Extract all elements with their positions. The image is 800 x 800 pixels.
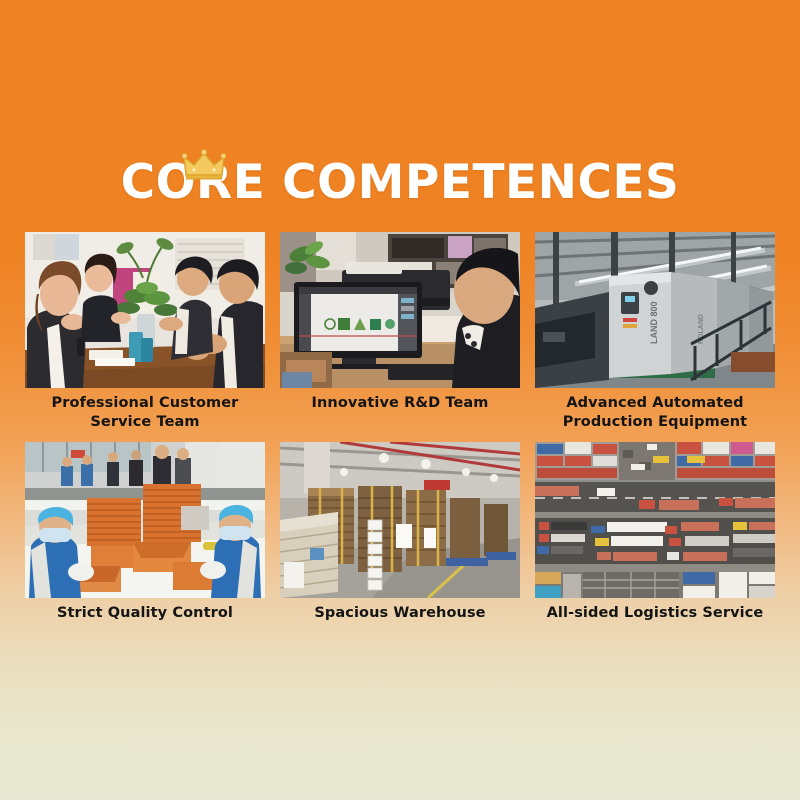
caption-line: Strict Quality Control	[25, 604, 265, 623]
card-professional-customer-service-team[interactable]: Professional Customer Service Team	[25, 232, 265, 434]
office-meeting-photo	[25, 232, 265, 388]
caption-line: All-sided Logistics Service	[535, 604, 775, 623]
caption-line: Spacious Warehouse	[280, 604, 520, 623]
caption-line: Service Team	[25, 413, 265, 432]
card-caption: Advanced Automated Production Equipment	[535, 394, 775, 434]
designer-at-monitor-photo	[280, 232, 520, 388]
caption-line: Professional Customer	[25, 394, 265, 413]
warehouse-stacked-pallets-photo	[280, 442, 520, 598]
page-title: CORE COMPETENCES	[0, 155, 800, 211]
crown-icon	[182, 149, 226, 183]
card-strict-quality-control[interactable]: Strict Quality Control	[25, 442, 265, 623]
card-advanced-automated-production-equipment[interactable]: LAND 800 ROLAND	[535, 232, 775, 434]
caption-line: Production Equipment	[535, 413, 775, 432]
quality-inspection-workers-photo	[25, 442, 265, 598]
card-all-sided-logistics-service[interactable]: All-sided Logistics Service	[535, 442, 775, 623]
printing-press-photo: LAND 800 ROLAND	[535, 232, 775, 388]
caption-line: Advanced Automated	[535, 394, 775, 413]
core-competences-banner: CORE COMPETENCES	[0, 0, 800, 800]
card-caption: Strict Quality Control	[25, 604, 265, 623]
grid-row: Strict Quality Control	[25, 442, 775, 623]
svg-text:LAND 800: LAND 800	[649, 301, 659, 344]
card-caption: Professional Customer Service Team	[25, 394, 265, 434]
card-caption: All-sided Logistics Service	[535, 604, 775, 623]
card-spacious-warehouse[interactable]: Spacious Warehouse	[280, 442, 520, 623]
card-caption: Innovative R&D Team	[280, 394, 520, 434]
grid-row: Professional Customer Service Team	[25, 232, 775, 434]
card-innovative-rd-team[interactable]: Innovative R&D Team	[280, 232, 520, 434]
card-caption: Spacious Warehouse	[280, 604, 520, 623]
aerial-container-port-photo	[535, 442, 775, 598]
caption-line: Innovative R&D Team	[280, 394, 520, 413]
competences-grid: Professional Customer Service Team	[25, 232, 775, 623]
